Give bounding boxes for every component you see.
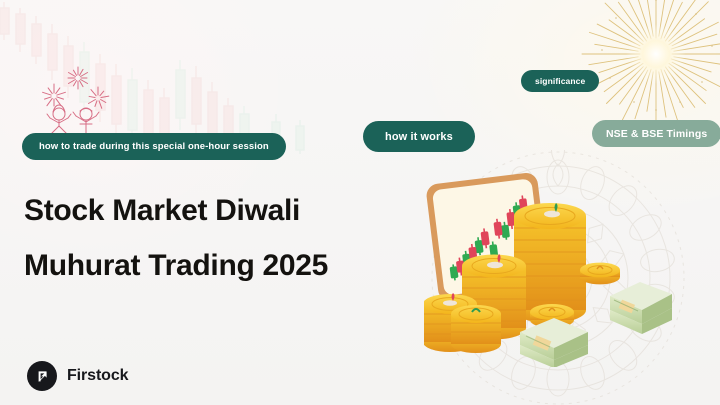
firstock-arrow-flag-icon: [27, 361, 57, 391]
pill-how-it-works[interactable]: how it works: [363, 121, 475, 152]
brand-logo[interactable]: Firstock: [27, 361, 128, 391]
pill-how-to-trade[interactable]: how to trade during this special one-hou…: [22, 133, 286, 160]
gold-starburst-firework-icon: [576, 0, 720, 134]
pill-nse-bse-timings[interactable]: NSE & BSE Timings: [592, 120, 720, 147]
diwali-trading-growth-illustration: [424, 162, 714, 367]
page-title-line-1: Stock Market Diwali: [24, 196, 424, 226]
brand-name: Firstock: [67, 367, 128, 385]
pill-significance[interactable]: significance: [521, 70, 599, 92]
page-title-line-2: Muhurat Trading 2025: [24, 251, 424, 281]
hero-banner: how to trade during this special one-hou…: [0, 0, 720, 405]
page-title: Stock Market Diwali Muhurat Trading 2025: [24, 196, 424, 281]
